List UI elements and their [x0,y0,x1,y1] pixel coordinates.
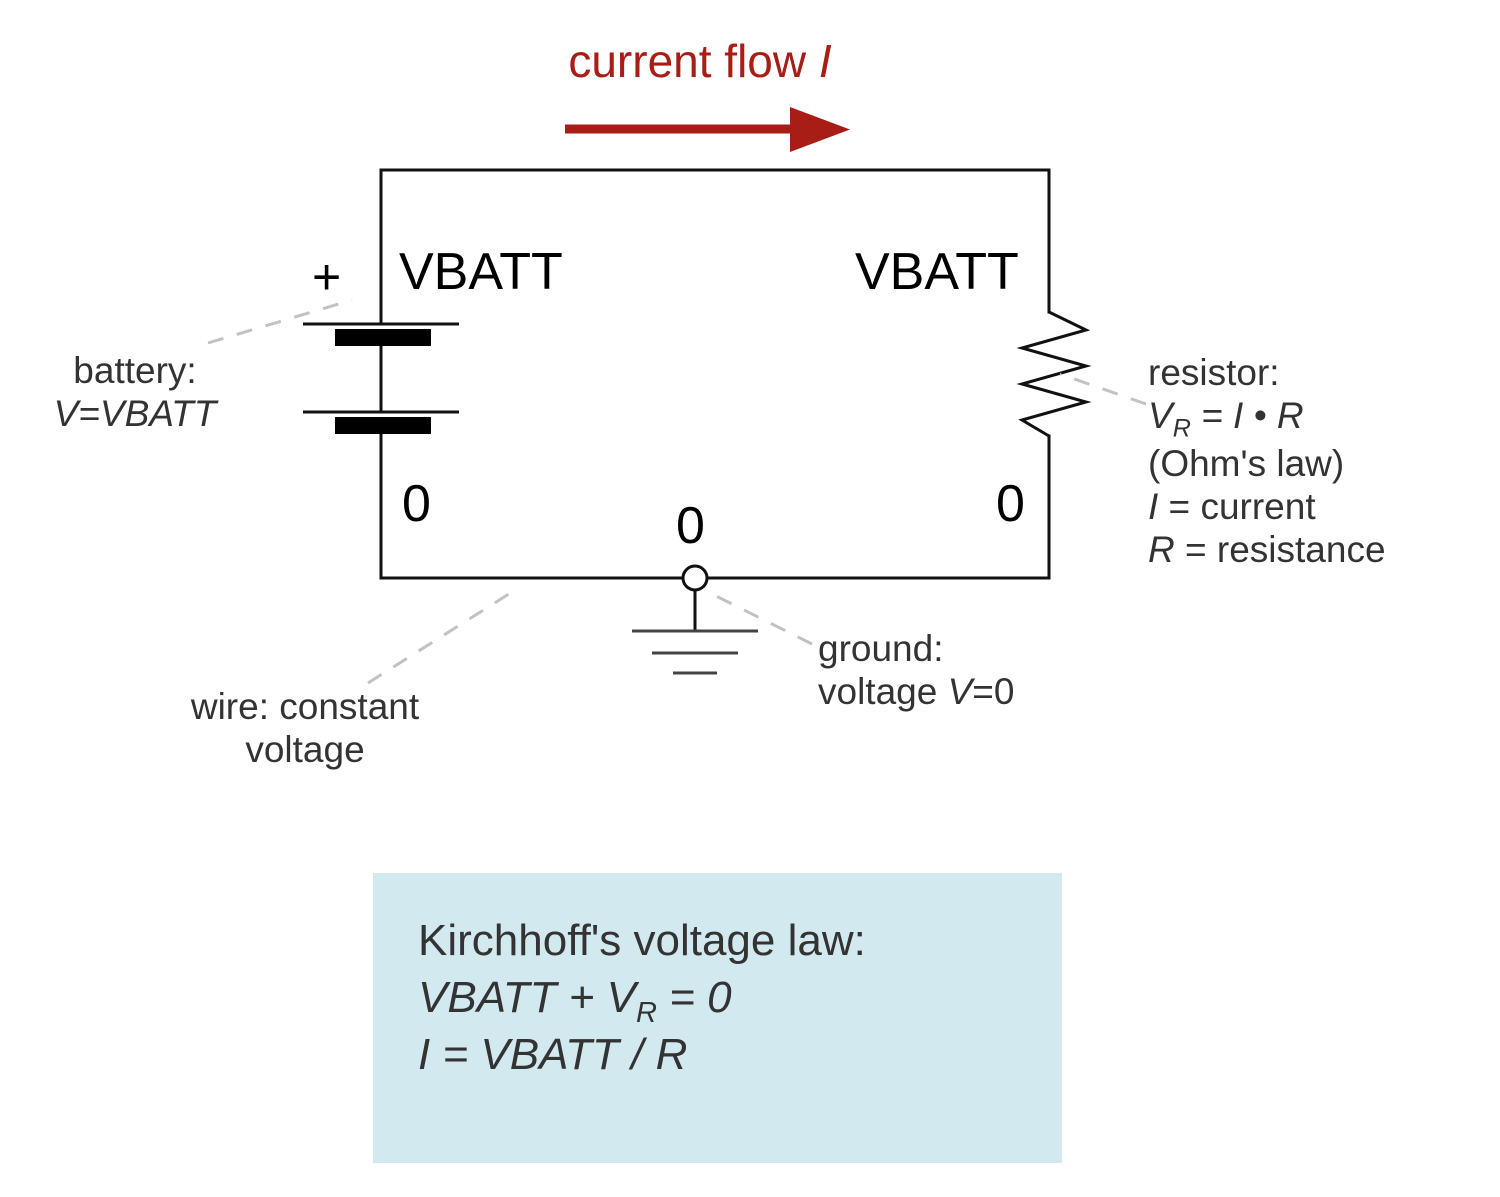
callout-resistor-v: V [1148,395,1173,436]
callout-resistor-line5: R = resistance [1148,529,1386,572]
leader-battery [208,300,352,343]
kvl-eq1-rhs: = 0 [657,973,732,1022]
callout-resistor-ohm-expr: = I • R [1191,395,1304,436]
battery-plus-terminal-label: + [312,252,341,302]
callout-resistor-v-subscript: R [1173,414,1191,442]
leader-ground [708,592,812,644]
callout-resistor-r-def: = resistance [1175,529,1386,570]
callout-wire-line2: voltage [90,729,520,772]
node-label-bottom-center: 0 [676,500,705,552]
node-label-bottom-left: 0 [402,478,431,530]
callout-wire-line1: wire: constant [90,686,520,729]
node-label-bottom-right: 0 [996,478,1025,530]
callout-wire: wire: constant voltage [90,686,520,772]
callout-battery-v: V [54,393,79,434]
resistor-symbol-icon [1022,312,1086,436]
kvl-eq1-lhs: VBATT + V [418,973,636,1022]
callout-ground-line1: ground: [818,628,1014,671]
callout-resistor-line2: VR = I • R [1148,395,1386,444]
callout-battery: battery: V=VBATT [10,350,260,436]
current-flow-arrow-icon [565,107,850,152]
kvl-heading: Kirchhoff's voltage law: [418,913,866,970]
node-label-top-right: VBATT [855,246,1019,298]
callout-battery-eq: = [78,393,100,434]
kvl-equation-1: VBATT + VR = 0 [418,970,866,1027]
kirchhoff-text-block: Kirchhoff's voltage law: VBATT + VR = 0 … [418,913,866,1084]
callout-ground-voltage-word: voltage [818,671,948,712]
callout-resistor-i-def: = current [1158,486,1315,527]
leader-wire [368,592,512,683]
kvl-eq1-subscript: R [636,997,657,1029]
node-label-top-left: VBATT [399,246,563,298]
callout-resistor-line3: (Ohm's law) [1148,443,1386,486]
callout-battery-line2: V=VBATT [10,393,260,436]
callout-ground-v: V [948,671,973,712]
callout-resistor-i: I [1148,486,1158,527]
kvl-equation-2: I = VBATT / R [418,1027,866,1084]
callout-resistor-r: R [1148,529,1175,570]
callout-ground-value: =0 [972,671,1014,712]
circuit-loop-wires [381,170,1049,578]
callout-battery-vbatt: VBATT [100,393,217,434]
callout-ground-line2: voltage V=0 [818,671,1014,714]
ground-symbol-icon [632,566,758,673]
callout-resistor-line4: I = current [1148,486,1386,529]
callout-battery-line1: battery: [10,350,260,393]
callout-resistor-line1: resistor: [1148,352,1386,395]
diagram-canvas: current flow I [0,0,1500,1197]
kvl-eq2-text: I = VBATT / R [418,1030,687,1079]
callout-resistor: resistor: VR = I • R (Ohm's law) I = cur… [1148,352,1386,572]
callout-ground: ground: voltage V=0 [818,628,1014,714]
